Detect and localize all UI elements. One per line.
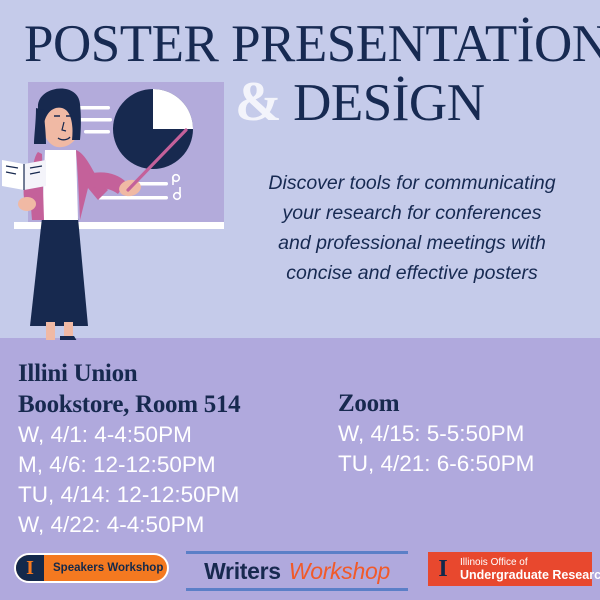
logo-speakers-workshop[interactable]: I Speakers Workshop bbox=[14, 553, 169, 583]
logo-speakers-label: Speakers Workshop bbox=[44, 562, 163, 574]
session-time: M, 4/6: 12-12:50PM bbox=[18, 450, 240, 480]
description-line: concise and effective posters bbox=[228, 258, 596, 288]
event-column-zoom: Zoom W, 4/15: 5-5:50PM TU, 4/21: 6-6:50P… bbox=[338, 388, 534, 479]
illinois-block-i-icon: I bbox=[16, 555, 44, 581]
poster-canvas: POSTER PRESENTATİON &DESİGN Discover too… bbox=[0, 0, 600, 600]
shirt bbox=[42, 150, 78, 220]
venue-heading-zoom: Zoom bbox=[338, 388, 534, 419]
page-title-line-1: POSTER PRESENTATİON bbox=[24, 16, 600, 72]
footer-logo-bar: I Speakers Workshop Writers Workshop I I… bbox=[0, 549, 600, 593]
logo-undergraduate-research[interactable]: I Illinois Office of Undergraduate Resea… bbox=[428, 552, 592, 586]
ampersand-glyph: & bbox=[235, 71, 293, 133]
description-line: your research for conferences bbox=[228, 198, 596, 228]
session-time: W, 4/15: 5-5:50PM bbox=[338, 419, 534, 449]
page-title-line-2: &DESİGN bbox=[235, 73, 484, 132]
logo-writers-workshop[interactable]: Writers Workshop bbox=[186, 551, 408, 591]
shoe bbox=[60, 336, 80, 340]
description-block: Discover tools for communicating your re… bbox=[228, 168, 596, 288]
skirt bbox=[30, 218, 88, 326]
description-line: Discover tools for communicating bbox=[228, 168, 596, 198]
logo-writers-word-2: Workshop bbox=[281, 558, 390, 585]
session-time: TU, 4/14: 12-12:50PM bbox=[18, 480, 240, 510]
logo-research-label: Illinois Office of Undergraduate Researc… bbox=[458, 557, 600, 582]
hand-left bbox=[18, 197, 36, 211]
session-time: W, 4/1: 4-4:50PM bbox=[18, 420, 240, 450]
event-column-illini-union: Illini Union Bookstore, Room 514 W, 4/1:… bbox=[18, 358, 240, 540]
venue-heading-line-2: Bookstore, Room 514 bbox=[18, 389, 240, 420]
venue-heading-line-1: Illini Union bbox=[18, 358, 240, 389]
logo-writers-word-1: Writers bbox=[204, 558, 281, 585]
page-title-design-word: DESİGN bbox=[293, 74, 484, 132]
illinois-block-i-icon: I bbox=[428, 552, 458, 586]
session-time: W, 4/22: 4-4:50PM bbox=[18, 510, 240, 540]
logo-research-line-2: Undergraduate Research bbox=[460, 569, 600, 582]
presenter-illustration bbox=[0, 78, 232, 340]
open-book-icon bbox=[2, 160, 46, 190]
description-line: and professional meetings with bbox=[228, 228, 596, 258]
session-time: TU, 4/21: 6-6:50PM bbox=[338, 449, 534, 479]
